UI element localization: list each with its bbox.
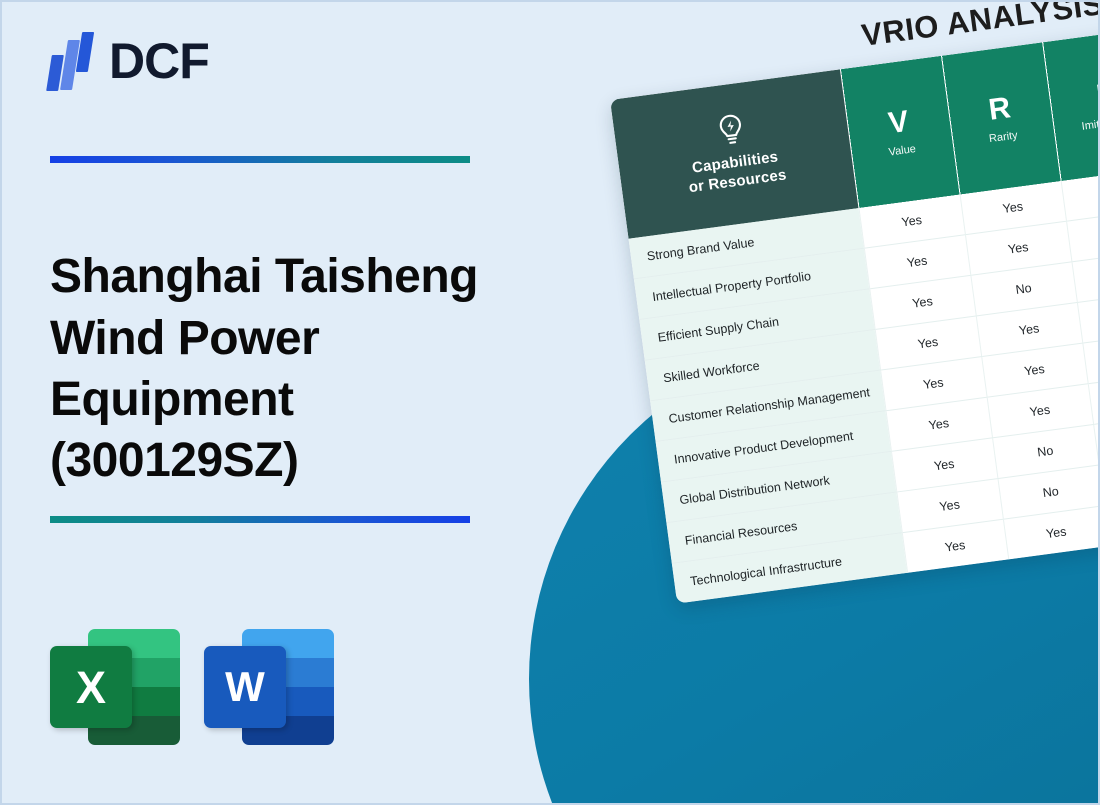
excel-file-icon[interactable]: X (50, 626, 180, 748)
column-header-value: V Value (840, 56, 960, 208)
excel-letter: X (50, 646, 132, 728)
column-header-rarity: R Rarity (941, 42, 1061, 194)
brand-logo: DCF (47, 30, 209, 92)
divider-top (50, 156, 470, 163)
word-letter: W (204, 646, 286, 728)
page-title: Shanghai Taisheng Wind Power Equipment (… (50, 246, 530, 492)
poster-page: DCF Shanghai Taisheng Wind Power Equipme… (0, 0, 1100, 805)
word-file-icon[interactable]: W (204, 626, 334, 748)
brand-name: DCF (109, 36, 209, 86)
divider-bottom (50, 516, 470, 523)
lightbulb-idea-icon (714, 111, 748, 149)
column-letter-i: I (1049, 74, 1100, 117)
column-letter-r: R (948, 88, 1052, 131)
vrio-table: Capabilities or Resources V Value R Rari… (610, 15, 1100, 603)
file-format-icons: X W (50, 626, 334, 748)
dcf-bars-logo-icon (47, 30, 95, 92)
column-letter-v: V (846, 101, 950, 144)
column-label-value: Value (852, 139, 954, 163)
column-label-rarity: Rarity (953, 125, 1055, 149)
vrio-analysis-card: VRIO ANALYSIS (610, 15, 1100, 603)
logo-bar-3 (76, 32, 94, 72)
